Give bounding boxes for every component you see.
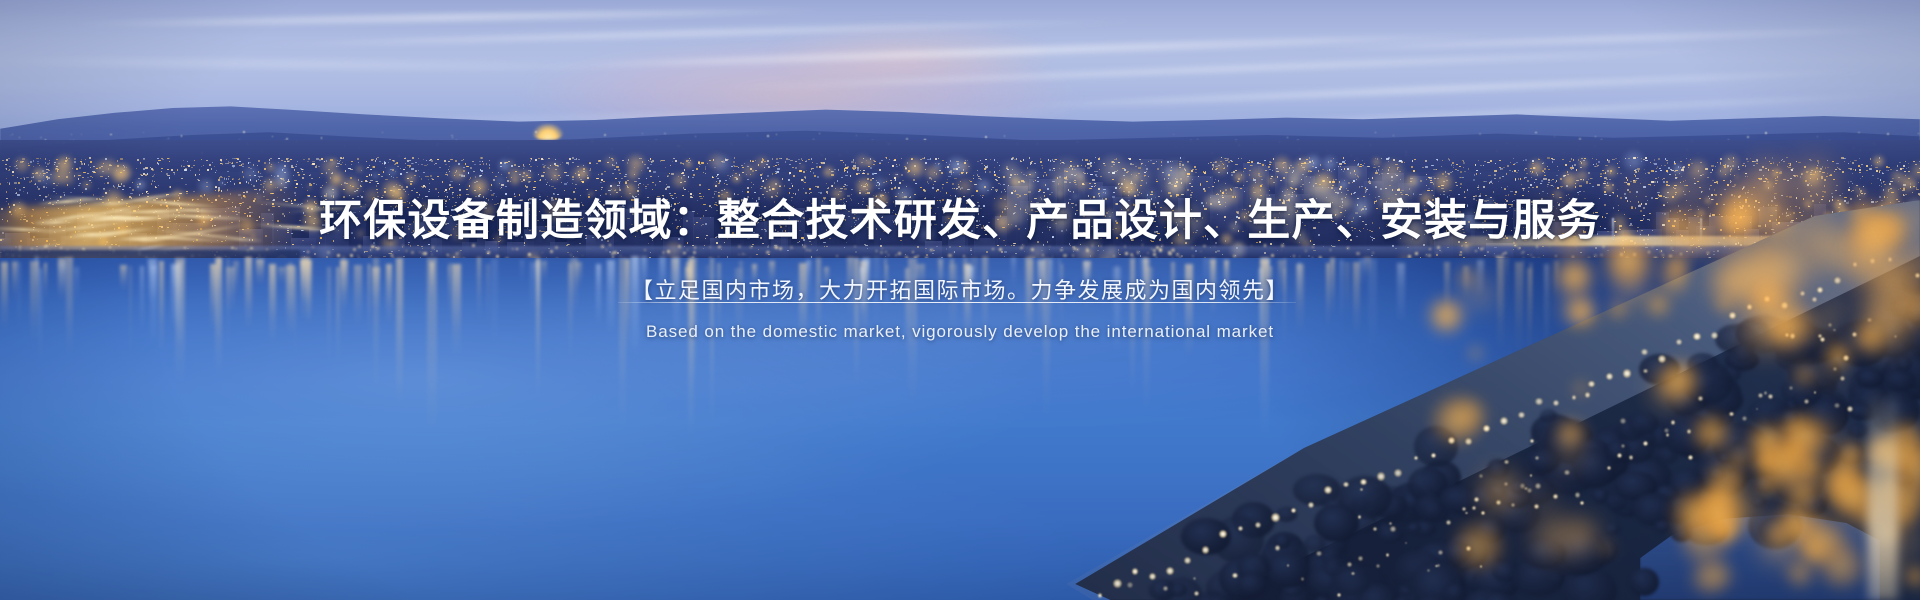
cirrus-cloud-streak xyxy=(60,7,840,29)
warm-city-glows xyxy=(1400,180,1920,600)
light-beam-streak xyxy=(1868,390,1898,600)
hero-banner: 环保设备制造领域：整合技术研发、产品设计、生产、安装与服务 【立足国内市场，大力… xyxy=(0,0,1920,600)
